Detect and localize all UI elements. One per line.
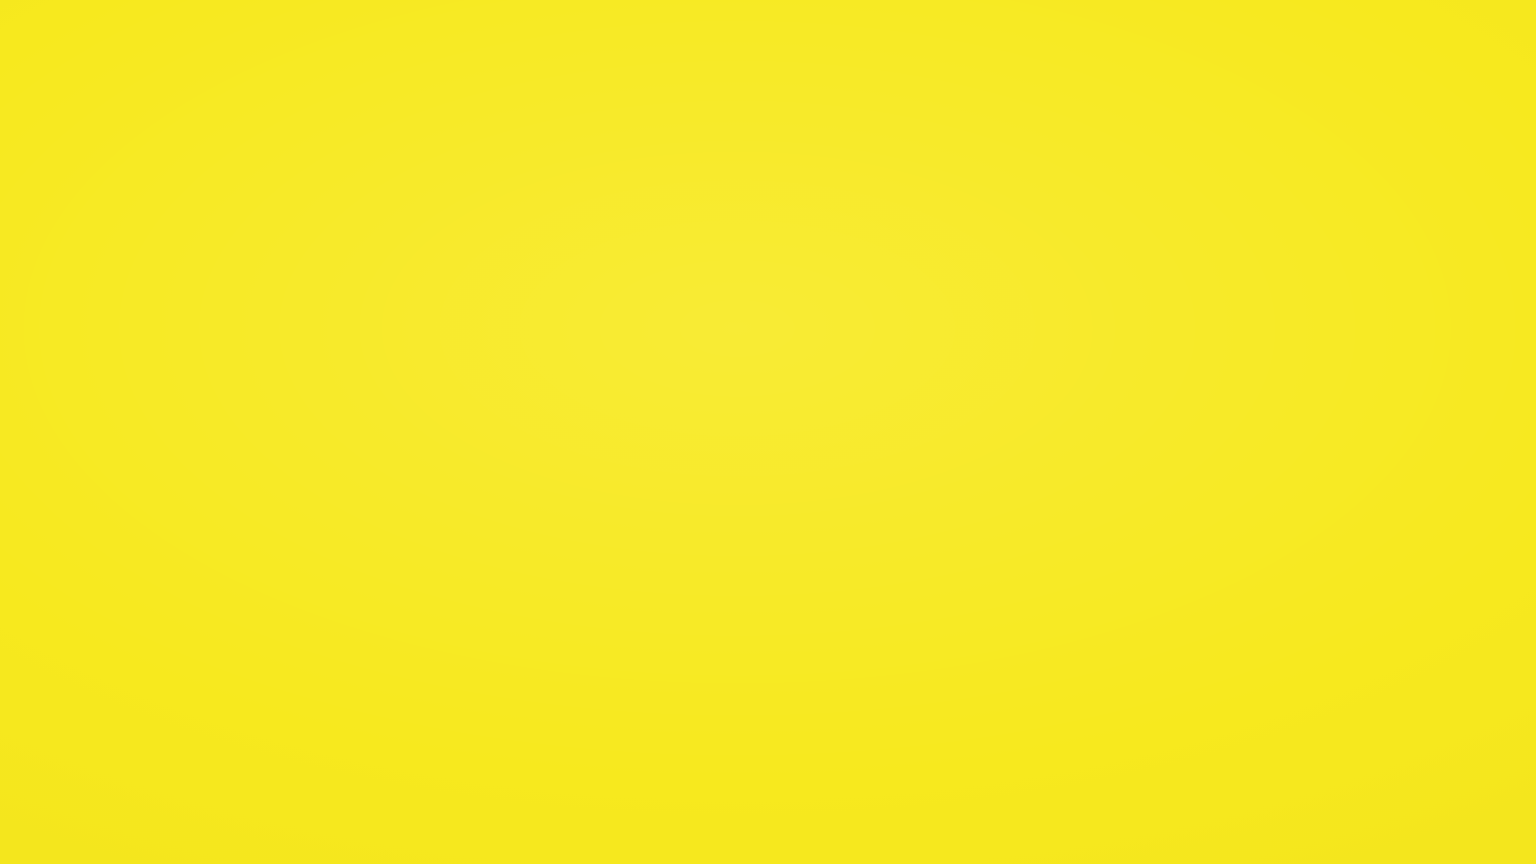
- infographic-canvas: 1 خلال هذه الفترة، بإمكانكم: العـمـل من …: [0, 0, 1536, 864]
